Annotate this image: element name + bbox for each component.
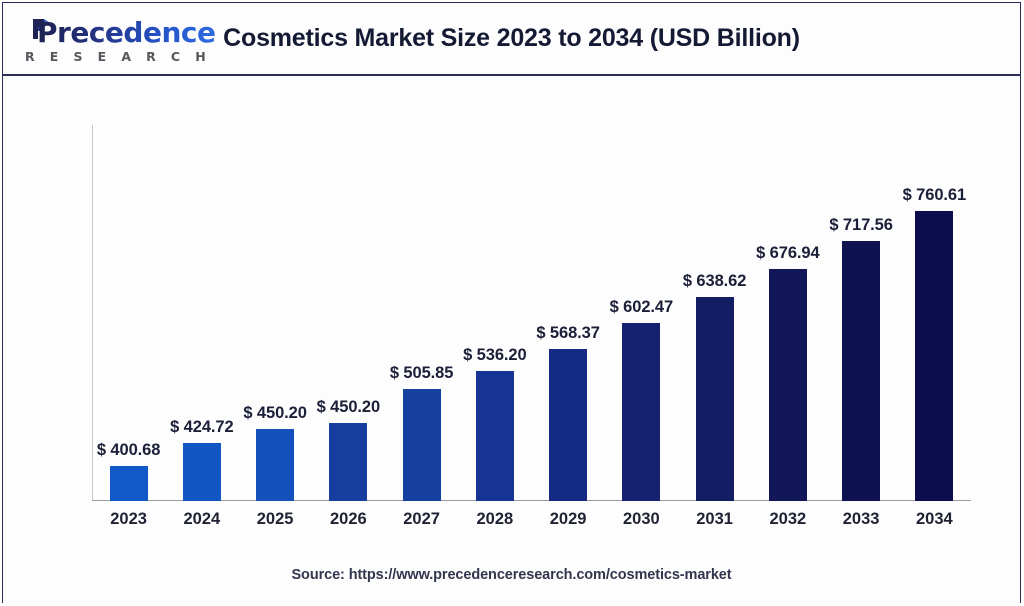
logo-wordmark: Precedence xyxy=(37,16,215,49)
x-tick-2029: 2029 xyxy=(532,510,605,529)
x-tick-2027: 2027 xyxy=(385,510,458,529)
bar-slot: $ 760.61 xyxy=(898,125,971,501)
bar-2031[interactable] xyxy=(696,297,734,501)
bar-2028[interactable] xyxy=(476,371,514,501)
x-tick-2030: 2030 xyxy=(605,510,678,529)
x-tick-2024: 2024 xyxy=(165,510,238,529)
bar-slot: $ 450.20 xyxy=(239,125,312,501)
bar-slot: $ 717.56 xyxy=(825,125,898,501)
bar-value-label-2026: $ 450.20 xyxy=(317,398,380,417)
x-tick-2031: 2031 xyxy=(678,510,751,529)
x-tick-2025: 2025 xyxy=(239,510,312,529)
bar-slot: $ 536.20 xyxy=(458,125,531,501)
x-tick-2028: 2028 xyxy=(458,510,531,529)
bar-2033[interactable] xyxy=(842,241,880,501)
bar-slot: $ 676.94 xyxy=(751,125,824,501)
chart-frame: Precedence R E S E A R C H Cosmetics Mar… xyxy=(2,2,1021,603)
x-tick-2032: 2032 xyxy=(751,510,824,529)
bar-value-label-2034: $ 760.61 xyxy=(903,186,966,205)
x-tick-2033: 2033 xyxy=(825,510,898,529)
bar-value-label-2029: $ 568.37 xyxy=(536,324,599,343)
x-tick-2034: 2034 xyxy=(898,510,971,529)
bar-slot: $ 450.20 xyxy=(312,125,385,501)
bar-value-label-2032: $ 676.94 xyxy=(756,244,819,263)
bar-value-label-2027: $ 505.85 xyxy=(390,364,453,383)
bar-2025[interactable] xyxy=(256,429,294,501)
bar-value-label-2025: $ 450.20 xyxy=(243,404,306,423)
bar-2030[interactable] xyxy=(622,323,660,501)
bar-2032[interactable] xyxy=(769,269,807,501)
bar-slot: $ 505.85 xyxy=(385,125,458,501)
chart-header: Precedence R E S E A R C H Cosmetics Mar… xyxy=(3,3,1020,76)
bar-2029[interactable] xyxy=(549,349,587,501)
bar-slot: $ 568.37 xyxy=(532,125,605,501)
bar-value-label-2028: $ 536.20 xyxy=(463,346,526,365)
bar-value-label-2023: $ 400.68 xyxy=(97,441,160,460)
bar-value-label-2031: $ 638.62 xyxy=(683,272,746,291)
bar-value-label-2030: $ 602.47 xyxy=(610,298,673,317)
bar-slot: $ 602.47 xyxy=(605,125,678,501)
x-tick-2023: 2023 xyxy=(92,510,165,529)
bar-2034[interactable] xyxy=(915,211,953,501)
bar-slot: $ 638.62 xyxy=(678,125,751,501)
bar-2026[interactable] xyxy=(329,423,367,501)
bar-value-label-2033: $ 717.56 xyxy=(829,216,892,235)
bar-2027[interactable] xyxy=(403,389,441,501)
bar-value-label-2024: $ 424.72 xyxy=(170,418,233,437)
logo-subtitle: R E S E A R C H xyxy=(25,49,211,64)
chart-page: Precedence R E S E A R C H Cosmetics Mar… xyxy=(0,0,1024,606)
bar-2024[interactable] xyxy=(183,443,221,501)
x-tick-2026: 2026 xyxy=(312,510,385,529)
precedence-research-logo: Precedence R E S E A R C H xyxy=(23,18,183,66)
source-caption: Source: https://www.precedenceresearch.c… xyxy=(3,567,1020,583)
bar-slot: $ 424.72 xyxy=(165,125,238,501)
x-axis-tick-labels: 2023202420252026202720282029203020312032… xyxy=(92,510,971,540)
bar-series: $ 400.68$ 424.72$ 450.20$ 450.20$ 505.85… xyxy=(92,125,971,501)
plot-area: $ 400.68$ 424.72$ 450.20$ 450.20$ 505.85… xyxy=(3,76,1020,604)
bar-slot: $ 400.68 xyxy=(92,125,165,501)
bar-2023[interactable] xyxy=(110,466,148,501)
